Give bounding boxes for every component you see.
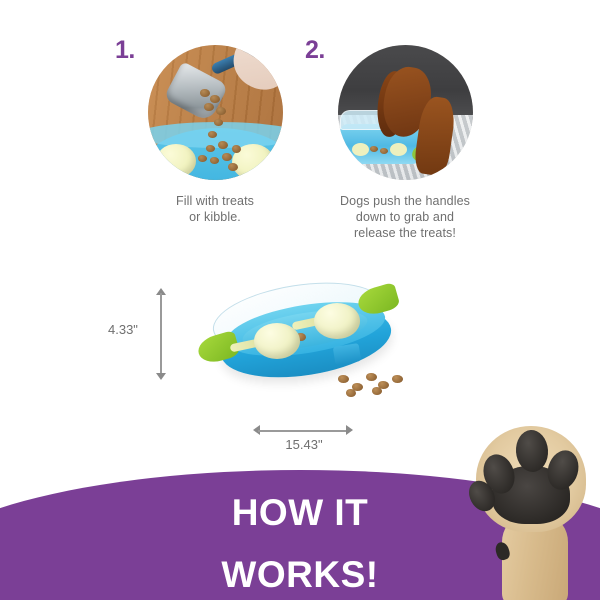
kibble-piece (204, 103, 214, 111)
kibble-piece (222, 153, 232, 161)
kibble-piece (200, 89, 210, 97)
step-photo-2 (338, 45, 473, 180)
photo-scooping-kibble (148, 45, 283, 180)
kibble-piece (338, 375, 349, 383)
width-dimension-line (258, 430, 348, 432)
banner-title-line-2: WORKS! (90, 556, 510, 594)
kibble-piece (206, 145, 215, 152)
bone-pusher-left (352, 143, 369, 156)
kibble-piece (346, 389, 356, 397)
kibble-piece (366, 373, 377, 381)
step-number-2: 2. (305, 38, 325, 63)
kibble-piece (208, 131, 217, 138)
banner-title-line-1: HOW IT (90, 494, 510, 532)
kibble-piece (218, 141, 228, 149)
photo-dog-pushing-handle (338, 45, 473, 180)
kibble-piece (228, 163, 238, 171)
width-dimension-label: 15.43" (258, 437, 350, 452)
height-dimension-label: 4.33" (108, 322, 138, 337)
kibble-piece (198, 155, 207, 162)
arrow-right-icon (346, 425, 353, 435)
kibble-piece (370, 146, 378, 152)
banner-text-block: HOW IT WORKS! Best for pets with little … (90, 470, 510, 600)
kibble-piece (392, 375, 403, 383)
kibble-piece (210, 95, 220, 103)
kibble-piece (216, 107, 226, 115)
step-caption-1: Fill with treats or kibble. (110, 193, 320, 225)
bone-pusher-right (314, 303, 360, 339)
product-hero-photo (196, 283, 411, 398)
bone-pusher-left (254, 323, 300, 359)
step-number-1: 1. (115, 38, 135, 63)
step-caption-2: Dogs push the handles down to grab and r… (300, 193, 510, 241)
bone-pusher-left (156, 144, 196, 178)
infographic-page: 1. (0, 0, 600, 600)
kibble-piece (380, 148, 388, 154)
kibble-piece (372, 387, 382, 395)
arrow-down-icon (156, 373, 166, 380)
height-dimension-line (160, 293, 162, 375)
dog-paw-illustration (468, 422, 594, 600)
kibble-piece (210, 157, 219, 164)
kibble-piece (232, 145, 241, 153)
kibble-piece (214, 119, 223, 126)
step-photo-1 (148, 45, 283, 180)
